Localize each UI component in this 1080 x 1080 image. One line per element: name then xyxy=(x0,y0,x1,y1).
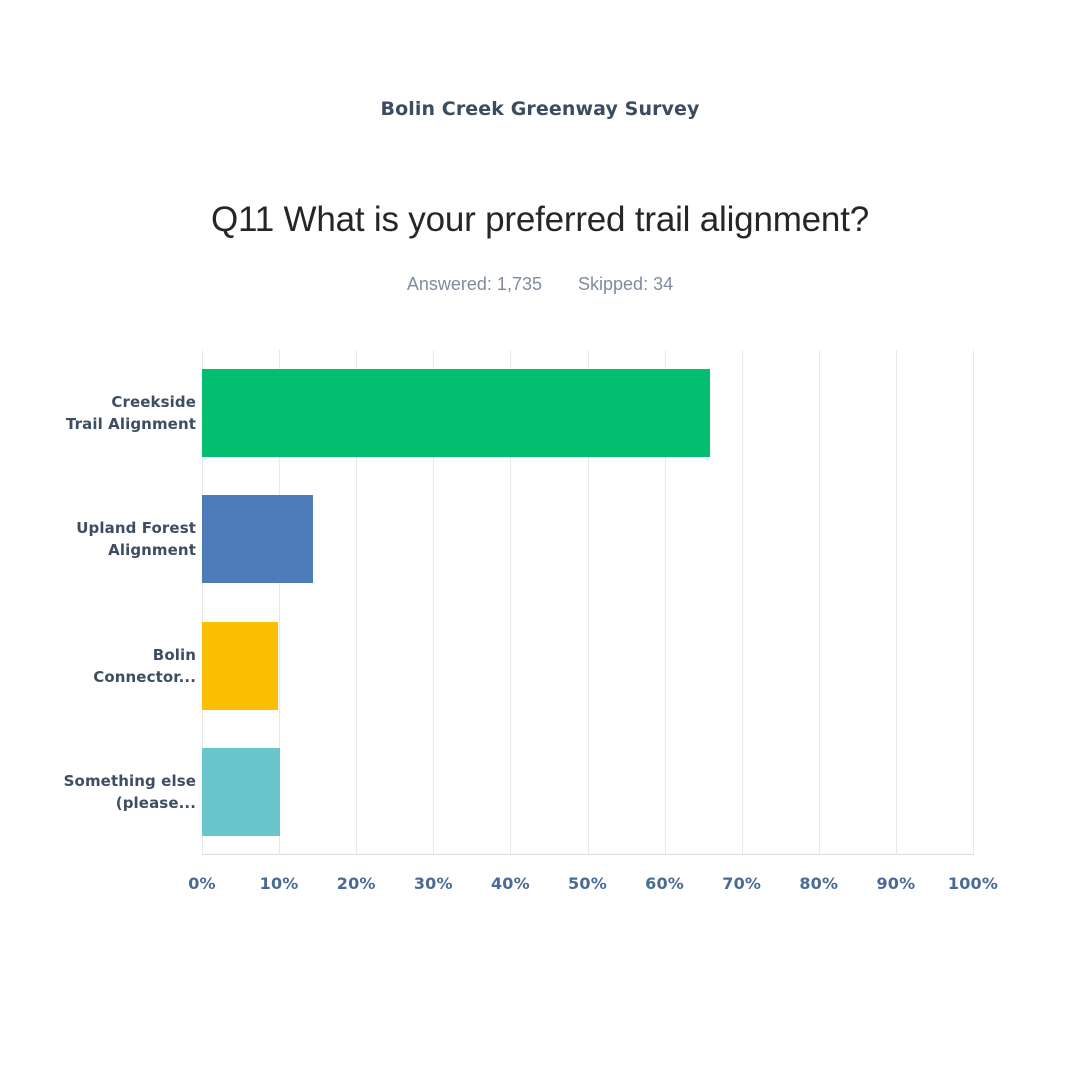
x-axis-line xyxy=(202,854,974,855)
gridline xyxy=(742,350,743,855)
bar[interactable] xyxy=(202,748,280,836)
category-label: Upland ForestAlignment xyxy=(30,517,196,561)
category-label: CreeksideTrail Alignment xyxy=(30,391,196,435)
gridline xyxy=(973,350,974,855)
category-label: BolinConnector... xyxy=(30,644,196,688)
bar[interactable] xyxy=(202,369,710,457)
category-label: Something else(please... xyxy=(30,770,196,814)
category-label-line: Upland Forest xyxy=(30,517,196,539)
gridline xyxy=(896,350,897,855)
category-label-line: Creekside xyxy=(30,391,196,413)
x-tick-label: 100% xyxy=(938,874,1008,893)
category-label-line: Alignment xyxy=(30,539,196,561)
x-tick-label: 60% xyxy=(630,874,700,893)
bar[interactable] xyxy=(202,495,313,583)
survey-chart-page: Bolin Creek Greenway Survey Q11 What is … xyxy=(0,0,1080,1080)
category-label-line: Connector... xyxy=(30,666,196,688)
x-tick-label: 10% xyxy=(244,874,314,893)
category-label-line: (please... xyxy=(30,792,196,814)
x-tick-label: 90% xyxy=(861,874,931,893)
x-tick-label: 0% xyxy=(167,874,237,893)
category-label-line: Something else xyxy=(30,770,196,792)
x-tick-label: 80% xyxy=(784,874,854,893)
category-label-line: Trail Alignment xyxy=(30,413,196,435)
x-tick-label: 50% xyxy=(553,874,623,893)
bar[interactable] xyxy=(202,622,278,710)
x-tick-label: 40% xyxy=(475,874,545,893)
x-tick-label: 20% xyxy=(321,874,391,893)
gridline xyxy=(819,350,820,855)
x-tick-label: 30% xyxy=(398,874,468,893)
category-label-line: Bolin xyxy=(30,644,196,666)
horizontal-bar-chart: CreeksideTrail AlignmentUpland ForestAli… xyxy=(0,0,1080,1080)
x-tick-label: 70% xyxy=(707,874,777,893)
